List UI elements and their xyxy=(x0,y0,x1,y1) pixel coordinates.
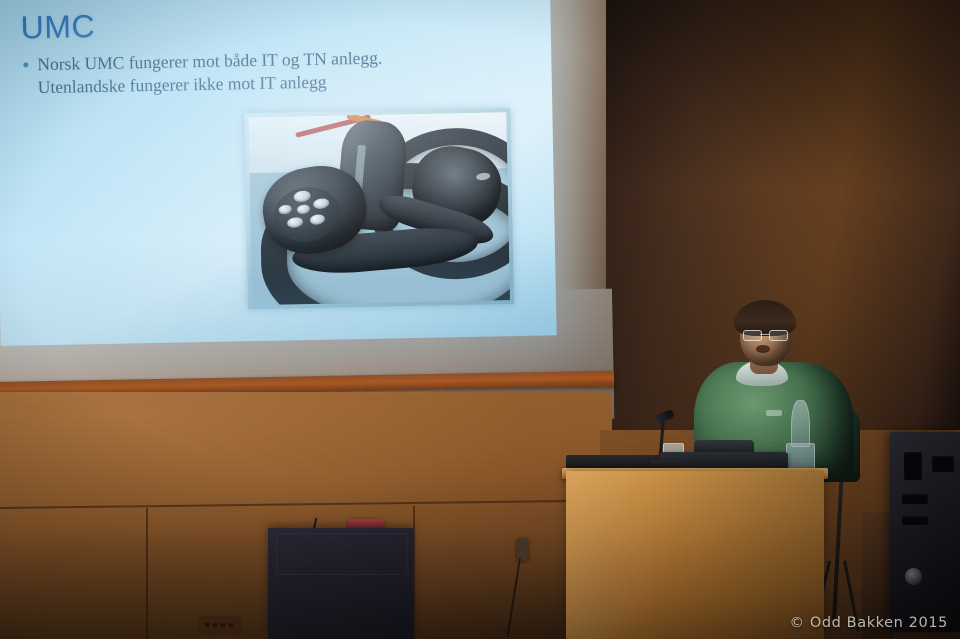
rack-knob xyxy=(905,568,922,585)
wall-seam-vertical-right xyxy=(413,506,415,639)
photograph-scene: UMC Norsk UMC fungerer mot både IT og TN… xyxy=(0,0,960,639)
sweater-logo xyxy=(766,410,782,416)
wall-vent-plate xyxy=(198,616,242,635)
slide-photo-ev-cable xyxy=(244,108,514,309)
copyright-watermark: © Odd Bakken 2015 xyxy=(790,615,948,631)
photo-pin-6 xyxy=(296,204,311,215)
rack-slot-2 xyxy=(932,456,954,472)
bullet-dot-icon xyxy=(23,62,28,67)
water-carafe-neck xyxy=(791,400,810,447)
photo-connector-highlight xyxy=(476,172,491,181)
photo-connector-face xyxy=(270,182,344,246)
rack-slot-1 xyxy=(904,452,922,480)
photo-pin-1 xyxy=(292,189,311,203)
photo-pin-4 xyxy=(286,216,303,229)
slide-photo-inner xyxy=(248,112,510,305)
photo-pin-3 xyxy=(313,197,330,210)
projection-screen: UMC Norsk UMC fungerer mot både IT og TN… xyxy=(0,0,557,346)
wall-seam-vertical-left xyxy=(146,508,148,639)
slide-bullet-text: Norsk UMC fungerer mot både IT og TN anl… xyxy=(37,47,383,100)
slide-title: UMC xyxy=(20,8,95,46)
equipment-case xyxy=(268,528,413,639)
glasses-icon xyxy=(742,330,790,339)
slide-bullet-item: Norsk UMC fungerer mot både IT og TN anl… xyxy=(23,44,494,99)
photo-pin-5 xyxy=(309,213,326,226)
rack-slot-4 xyxy=(902,516,928,525)
rack-slot-3 xyxy=(902,494,928,504)
photo-pin-2 xyxy=(277,204,292,215)
presenter-mouth xyxy=(756,345,770,353)
speaker-podium xyxy=(566,471,824,639)
